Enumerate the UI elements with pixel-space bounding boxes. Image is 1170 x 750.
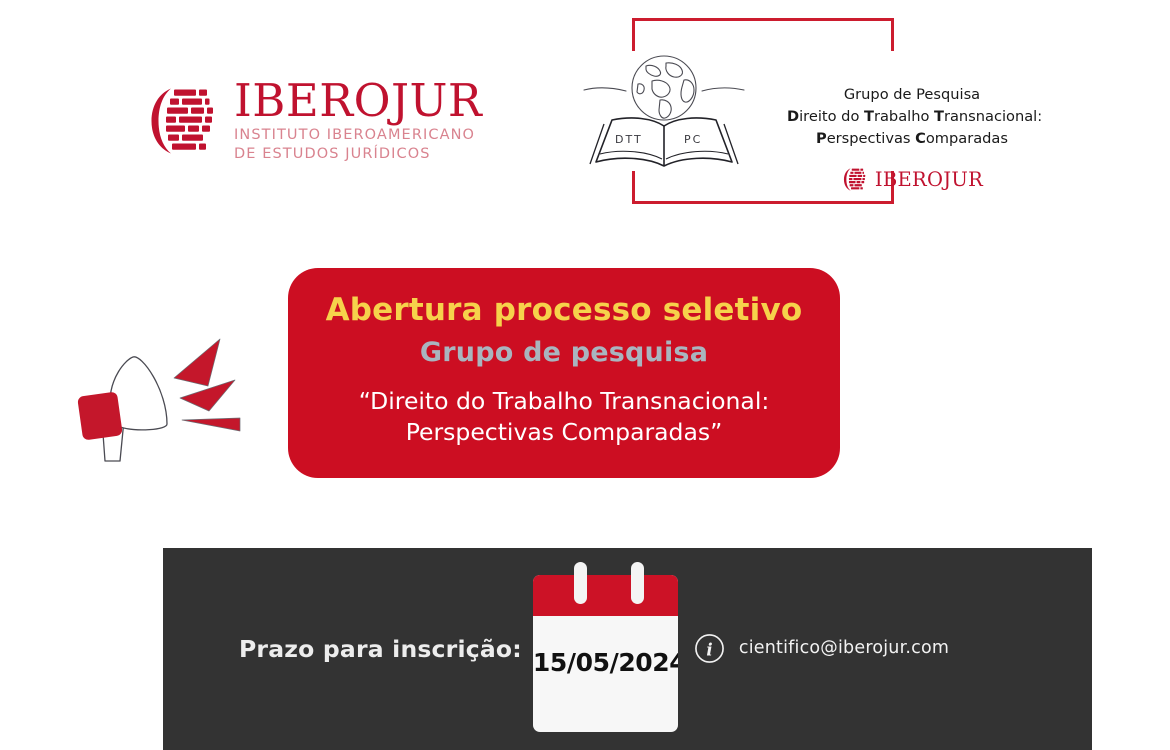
frame-bottom-line	[632, 201, 894, 204]
contact-email: cientifico@iberojur.com	[739, 638, 949, 658]
banner-quote-line-2: Perspectivas Comparadas”	[359, 417, 770, 448]
research-group-title: Grupo de Pesquisa Direito do Trabalho Tr…	[787, 84, 1037, 151]
banner-subhead: Grupo de pesquisa	[420, 337, 708, 369]
info-circle-icon: i	[694, 633, 725, 664]
deadline-bar: Prazo para inscrição: 15/05/2024 i cient…	[163, 548, 1092, 750]
deadline-row: Prazo para inscrição: 15/05/2024 i cient…	[163, 548, 1092, 750]
frame-corner-bottom-left	[632, 171, 635, 204]
group-title-line-1: Grupo de Pesquisa	[787, 84, 1037, 106]
book-left-page-label: DTT	[615, 133, 643, 146]
group-iberojur-wordmark: IBEROJUR	[875, 170, 983, 190]
calendar-icon: 15/05/2024	[533, 562, 678, 732]
deadline-date: 15/05/2024	[533, 648, 678, 677]
deadline-label: Prazo para inscrição:	[239, 635, 522, 664]
calendar-body: 15/05/2024	[533, 575, 678, 732]
frame-corner-top-right	[891, 18, 894, 51]
announcement-banner: Abertura processo seletivo Grupo de pesq…	[288, 268, 840, 478]
group-title-line-3: Perspectivas Comparadas	[787, 128, 1037, 150]
frame-corner-top-left	[632, 18, 635, 51]
frame-top-line	[632, 18, 894, 21]
contact-block: i cientifico@iberojur.com	[694, 633, 949, 666]
globe-over-open-book-icon: DTT PC	[574, 50, 754, 170]
svg-text:i: i	[706, 640, 712, 659]
calendar-ring-left	[574, 562, 587, 604]
iberojur-globe-icon	[143, 82, 221, 160]
banner-headline: Abertura processo seletivo	[326, 292, 803, 329]
iberojur-wordmark-block: IBEROJUR INSTITUTO IBEROAMERICANO DE EST…	[234, 78, 482, 164]
book-right-page-label: PC	[684, 133, 702, 146]
banner-quote: “Direito do Trabalho Transnacional: Pers…	[359, 386, 770, 448]
iberojur-institute-logo: IBEROJUR INSTITUTO IBEROAMERICANO DE EST…	[143, 78, 482, 164]
calendar-ring-right	[631, 562, 644, 604]
banner-quote-line-1: “Direito do Trabalho Transnacional:	[359, 386, 770, 417]
research-group-iberojur-brand: IBEROJUR	[787, 166, 1037, 193]
iberojur-wordmark: IBEROJUR	[234, 78, 482, 123]
poster-canvas: IBEROJUR INSTITUTO IBEROAMERICANO DE EST…	[0, 0, 1170, 750]
iberojur-globe-icon-small	[841, 166, 868, 193]
group-title-line-2: Direito do Trabalho Transnacional:	[787, 106, 1037, 128]
iberojur-subtitle-line2: DE ESTUDOS JURÍDICOS	[234, 145, 482, 164]
megaphone-icon	[72, 332, 247, 467]
iberojur-subtitle-line1: INSTITUTO IBEROAMERICANO	[234, 126, 482, 145]
calendar-header-band	[533, 575, 678, 616]
research-group-logo: DTT PC Grupo de Pesquisa Direito do Trab…	[632, 18, 894, 204]
